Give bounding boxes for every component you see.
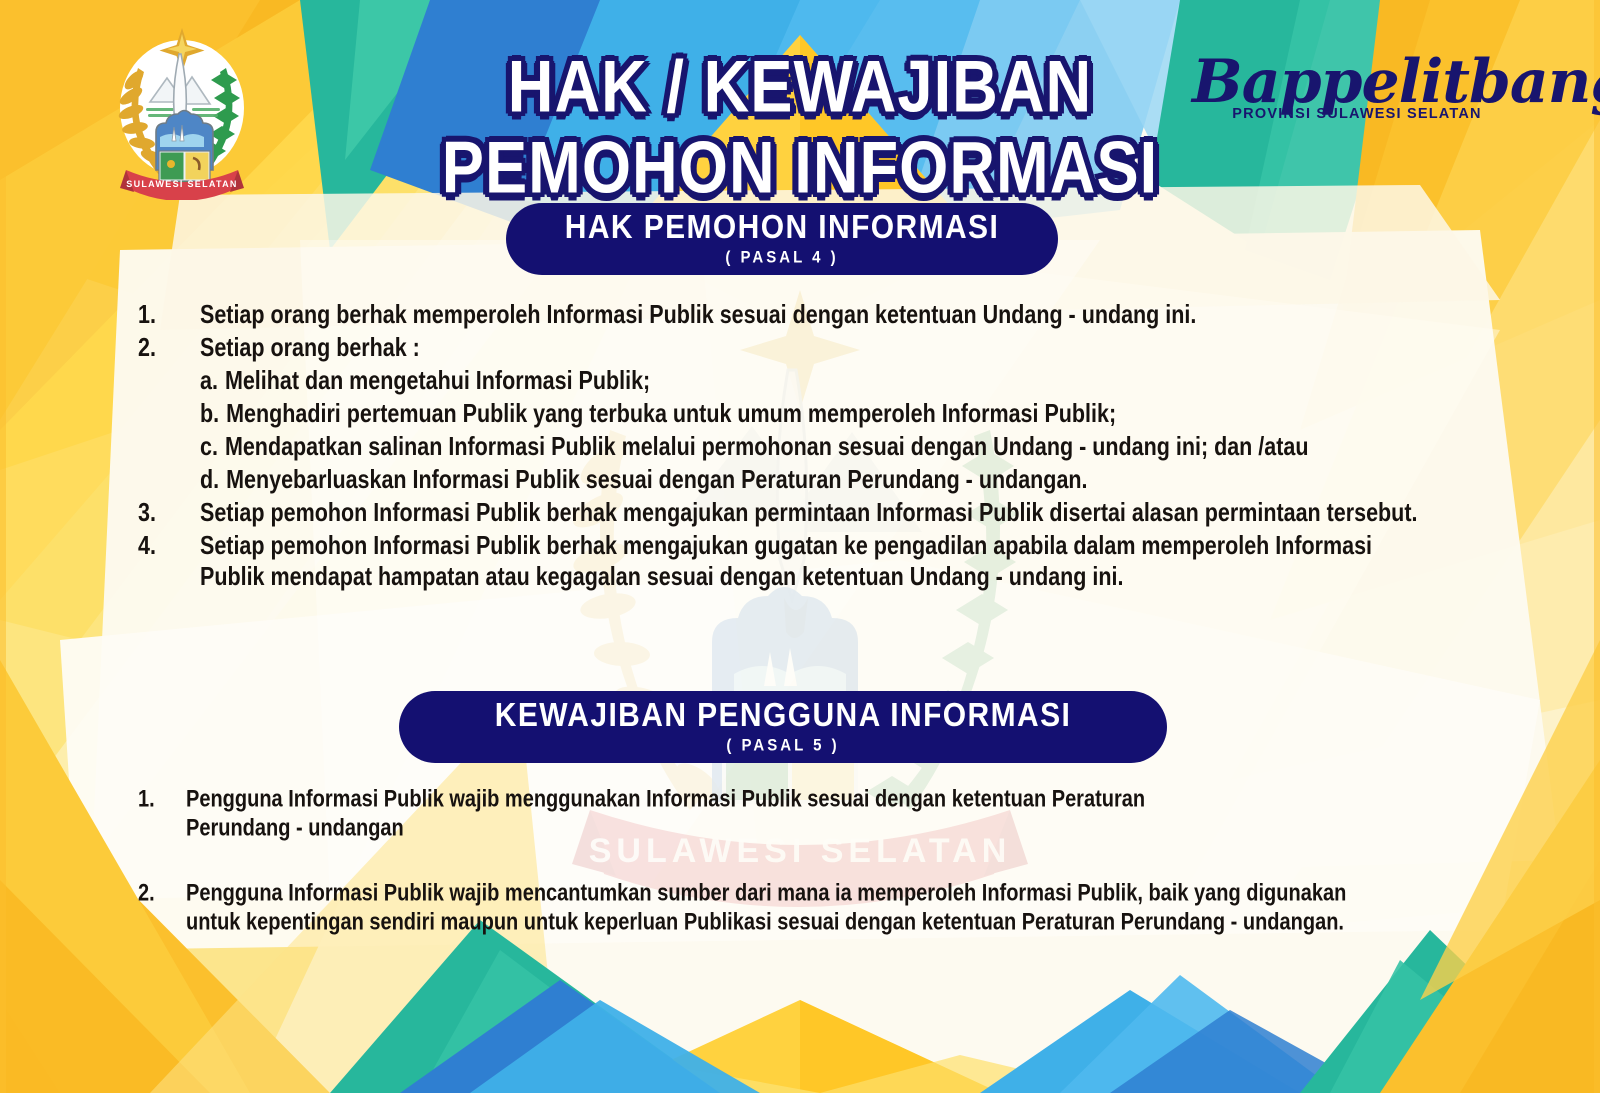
- subitem-number: c.: [200, 432, 218, 463]
- item-number: 2.: [138, 880, 186, 908]
- subitem-text: Mendapatkan salinan Informasi Publik mel…: [225, 432, 1309, 463]
- item-text-line2: Publik mendapat hampatan atau kegagalan …: [200, 562, 1123, 593]
- list-item-continuation: untuk kepentingan sendiri maupun untuk k…: [186, 909, 1538, 932]
- section-badge-hak: HAK PEMOHON INFORMASI ( PASAL 4 ): [506, 203, 1058, 275]
- item-number: 2.: [138, 333, 200, 364]
- kewajiban-list: 1. Pengguna Informasi Publik wajib mengg…: [138, 786, 1538, 938]
- crest-caption: SULAWESI SELATAN: [126, 179, 237, 189]
- sub-list-item: a. Melihat dan mengetahui Informasi Publ…: [200, 366, 1538, 391]
- list-item: 4. Setiap pemohon Informasi Publik berha…: [138, 531, 1538, 556]
- sub-list-item: b. Menghadiri pertemuan Publik yang terb…: [200, 399, 1538, 424]
- item-number: 1.: [138, 786, 186, 814]
- hak-list: 1. Setiap orang berhak memperoleh Inform…: [138, 300, 1538, 595]
- item-text: Setiap orang berhak memperoleh Informasi…: [200, 300, 1196, 331]
- item-text: Setiap pemohon Informasi Publik berhak m…: [200, 498, 1417, 529]
- poster-root: SULAWESI SELATAN: [0, 0, 1600, 1093]
- item-text: Pengguna Informasi Publik wajib mencantu…: [186, 880, 1346, 908]
- item-text-line2: Perundang - undangan: [186, 815, 404, 843]
- badge-subtitle-hak: ( PASAL 4 ): [725, 248, 838, 266]
- sulawesi-selatan-crest-icon: SULAWESI SELATAN: [112, 22, 252, 200]
- item-text: Setiap orang berhak :: [200, 333, 420, 364]
- item-text: Pengguna Informasi Publik wajib mengguna…: [186, 786, 1145, 814]
- list-item: 3. Setiap pemohon Informasi Publik berha…: [138, 498, 1538, 523]
- subitem-text: Melihat dan mengetahui Informasi Publik;: [225, 366, 650, 397]
- item-number: 3.: [138, 498, 200, 529]
- list-item: 1. Setiap orang berhak memperoleh Inform…: [138, 300, 1538, 325]
- list-item: 2. Pengguna Informasi Publik wajib menca…: [138, 880, 1538, 903]
- list-item-continuation: Publik mendapat hampatan atau kegagalan …: [138, 562, 1538, 587]
- section-badge-kewajiban: KEWAJIBAN PENGGUNA INFORMASI ( PASAL 5 ): [399, 691, 1167, 763]
- item-number: 4.: [138, 531, 200, 562]
- bappelitbangda-logo: Bappelitbangda PROVINSI SULAWESI SELATAN: [1192, 52, 1522, 162]
- list-item: 2. Setiap orang berhak :: [138, 333, 1538, 358]
- brand-name: Bappelitbangda: [1192, 52, 1522, 112]
- subitem-number: b.: [200, 399, 219, 430]
- subitem-number: a.: [200, 366, 218, 397]
- list-item-continuation: Perundang - undangan: [186, 815, 1538, 838]
- item-text: Setiap pemohon Informasi Publik berhak m…: [200, 531, 1372, 562]
- badge-title-kewajiban: KEWAJIBAN PENGGUNA INFORMASI: [495, 698, 1071, 733]
- spacer: [138, 844, 1538, 880]
- badge-title-hak: HAK PEMOHON INFORMASI: [565, 210, 999, 245]
- sub-list-item: d. Menyebarluaskan Informasi Publik sesu…: [200, 465, 1538, 490]
- subitem-text: Menghadiri pertemuan Publik yang terbuka…: [226, 399, 1116, 430]
- list-item: 1. Pengguna Informasi Publik wajib mengg…: [138, 786, 1538, 809]
- subitem-text: Menyebarluaskan Informasi Publik sesuai …: [226, 465, 1087, 496]
- item-text-line2: untuk kepentingan sendiri maupun untuk k…: [186, 909, 1344, 937]
- brand-subtitle: PROVINSI SULAWESI SELATAN: [1192, 106, 1522, 122]
- item-number: 1.: [138, 300, 200, 331]
- subitem-number: d.: [200, 465, 219, 496]
- sub-list-item: c. Mendapatkan salinan Informasi Publik …: [200, 432, 1538, 457]
- badge-subtitle-kewajiban: ( PASAL 5 ): [726, 736, 839, 754]
